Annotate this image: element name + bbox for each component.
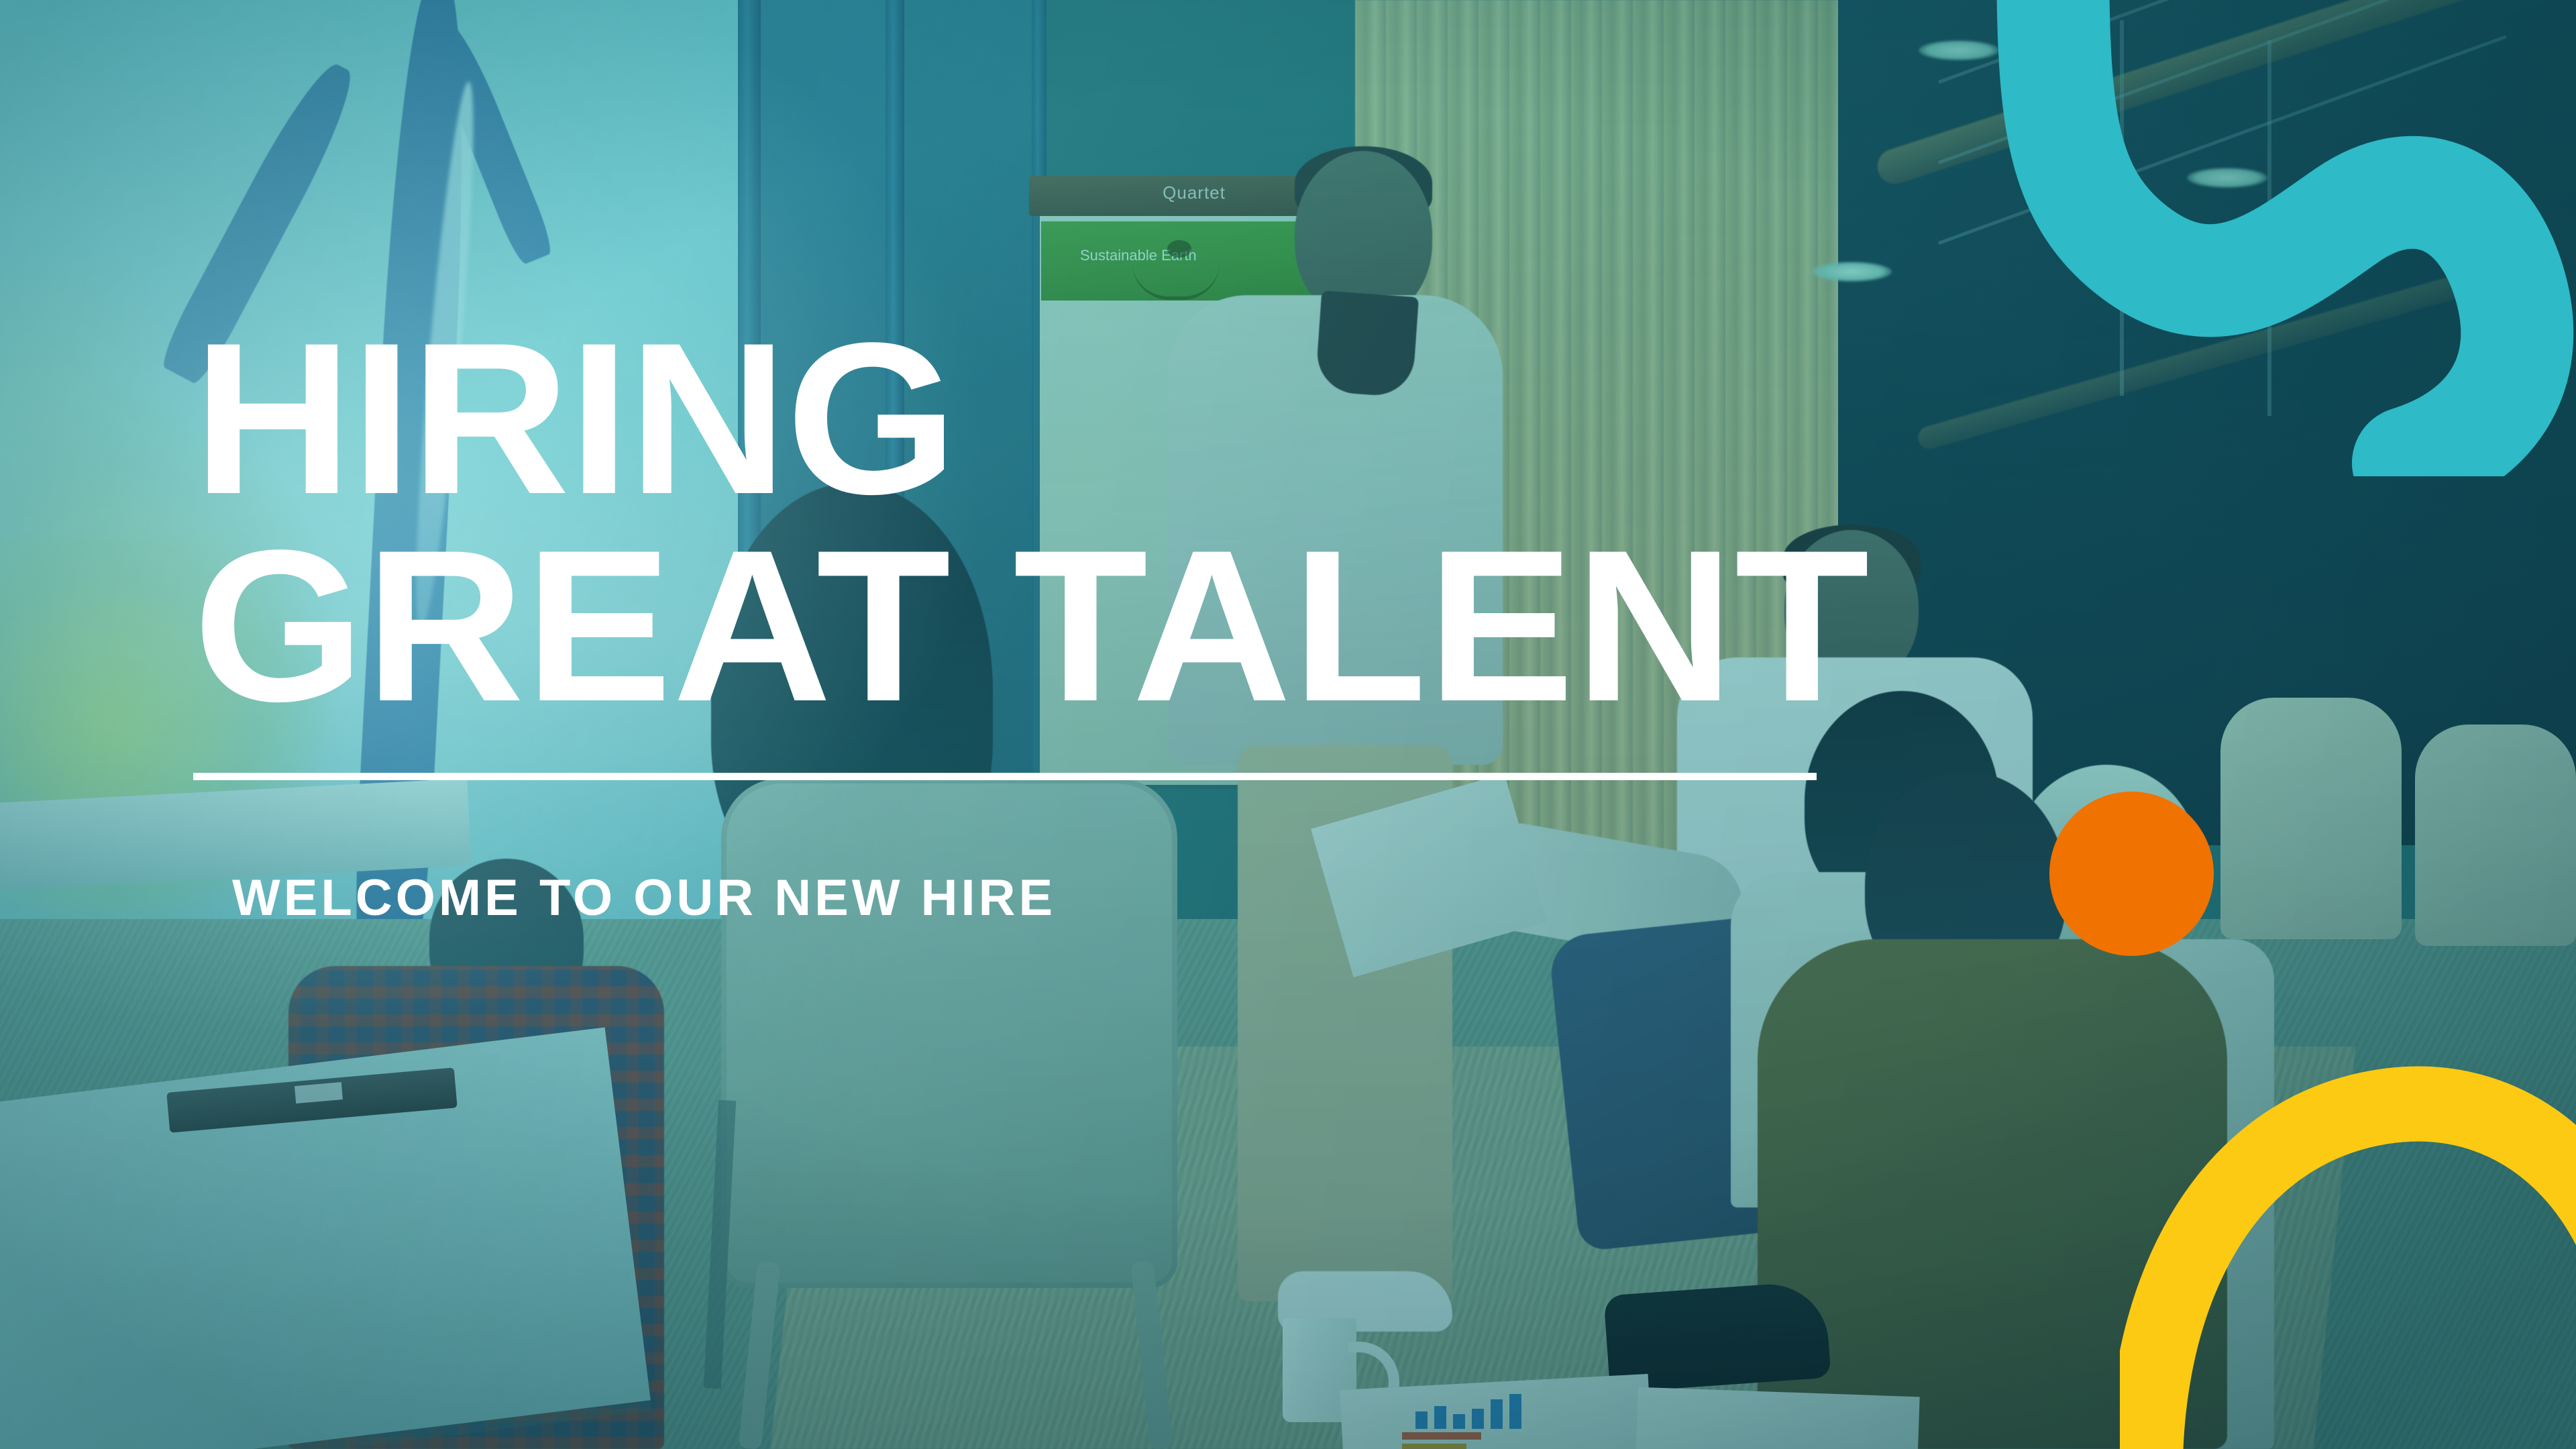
page-title: HIRING GREAT TALENT	[193, 315, 1876, 730]
headline-block: HIRING GREAT TALENT WELCOME TO OUR NEW H…	[193, 315, 1843, 927]
headline-line-1: HIRING	[193, 299, 956, 539]
hiring-banner: Quartet Sustainable Earth	[0, 0, 2576, 1449]
divider-rule	[193, 773, 1817, 780]
subtitle: WELCOME TO OUR NEW HIRE	[232, 869, 1843, 927]
headline-line-2: GREAT TALENT	[193, 523, 1876, 730]
